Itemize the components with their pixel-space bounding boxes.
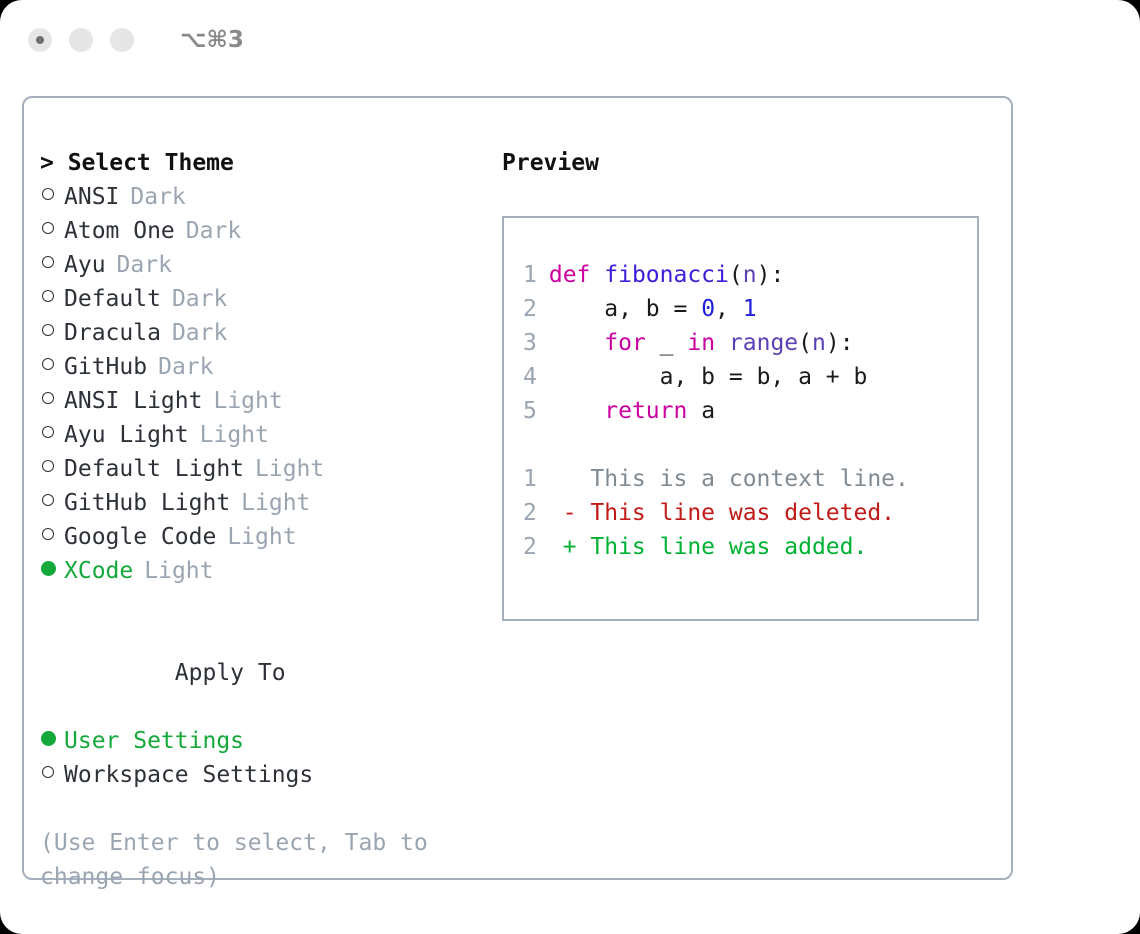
- theme-variant-tag: Light: [189, 418, 269, 452]
- gutter-space: [535, 296, 549, 322]
- gutter-space: [535, 364, 549, 390]
- app-window: ⌥⌘3 > Select Theme ANSIDarkAtom OneDarkA…: [0, 0, 1140, 934]
- code-token: a, b = b, a + b: [549, 364, 868, 390]
- theme-variant-tag: Dark: [175, 214, 241, 248]
- code-token: ):: [826, 330, 854, 356]
- code-token: (: [729, 262, 743, 288]
- line-number: 5: [523, 394, 535, 428]
- line-number: 3: [523, 326, 535, 360]
- window-control-second[interactable]: [69, 28, 93, 52]
- radio-ring: [42, 460, 54, 472]
- diff-line-text: This is a context line.: [535, 466, 909, 492]
- theme-variant-tag: Light: [230, 486, 310, 520]
- theme-option-label: Ayu Light: [64, 418, 189, 452]
- code-token: a: [687, 398, 715, 424]
- title-bar: ⌥⌘3: [0, 0, 1140, 80]
- theme-option-3[interactable]: DefaultDark: [40, 282, 480, 316]
- radio-ring: [42, 426, 54, 438]
- active-indicator-dot: [36, 36, 44, 44]
- theme-variant-tag: Light: [216, 520, 296, 554]
- radio-ring: [42, 222, 54, 234]
- window-control-active[interactable]: [28, 28, 52, 52]
- theme-option-5[interactable]: GitHubDark: [40, 350, 480, 384]
- theme-option-1[interactable]: Atom OneDark: [40, 214, 480, 248]
- radio-ring: [42, 358, 54, 370]
- diff-line: 2 - This line was deleted.: [523, 496, 909, 530]
- line-number: 2: [523, 292, 535, 326]
- apply-to-heading: Apply To: [151, 660, 286, 686]
- line-number: 4: [523, 360, 535, 394]
- preview-panel: Preview 1 def fibonacci(n):2 a, b = 0, 1…: [502, 146, 992, 621]
- code-token: [549, 330, 604, 356]
- theme-option-label: GitHub: [64, 350, 147, 384]
- diff-line-number: 2: [523, 530, 535, 564]
- theme-selector-panel: > Select Theme ANSIDarkAtom OneDarkAyuDa…: [40, 146, 480, 894]
- theme-option-2[interactable]: AyuDark: [40, 248, 480, 282]
- theme-option-label: ANSI: [64, 180, 119, 214]
- dialog-frame: > Select Theme ANSIDarkAtom OneDarkAyuDa…: [22, 96, 1013, 880]
- gutter-space: [535, 330, 549, 356]
- radio-ring: [42, 290, 54, 302]
- code-token: [549, 398, 604, 424]
- code-token: for: [604, 330, 646, 356]
- code-token: return: [604, 398, 687, 424]
- apply-to-section: Apply To: [40, 622, 480, 724]
- code-line: 1 def fibonacci(n):: [523, 258, 909, 292]
- theme-option-0[interactable]: ANSIDark: [40, 180, 480, 214]
- diff-line: 1 This is a context line.: [523, 462, 909, 496]
- code-token: n: [743, 262, 757, 288]
- line-number: 1: [523, 258, 535, 292]
- diff-line-text: - This line was deleted.: [535, 500, 895, 526]
- theme-option-11[interactable]: XCodeLight: [40, 554, 480, 588]
- theme-option-label: Default: [64, 282, 161, 316]
- theme-option-label: XCode: [64, 554, 133, 588]
- theme-option-list: ANSIDarkAtom OneDarkAyuDarkDefaultDarkDr…: [40, 180, 480, 588]
- code-line: 2 a, b = 0, 1: [523, 292, 909, 326]
- theme-variant-tag: Dark: [147, 350, 213, 384]
- gutter-space: [535, 398, 549, 424]
- theme-option-10[interactable]: Google CodeLight: [40, 520, 480, 554]
- radio-ring: [42, 392, 54, 404]
- theme-option-label: Dracula: [64, 316, 161, 350]
- radio-ring: [42, 324, 54, 336]
- theme-option-label: Default Light: [64, 452, 244, 486]
- apply-to-option-list: User SettingsWorkspace Settings: [40, 724, 480, 792]
- theme-variant-tag: Dark: [119, 180, 185, 214]
- radio-fill: [41, 561, 56, 576]
- theme-variant-tag: Dark: [106, 248, 172, 282]
- code-token: def: [549, 262, 604, 288]
- theme-option-7[interactable]: Ayu LightLight: [40, 418, 480, 452]
- apply-option-0[interactable]: User Settings: [40, 724, 480, 758]
- theme-variant-tag: Dark: [161, 316, 227, 350]
- code-token: fibonacci: [604, 262, 729, 288]
- theme-option-8[interactable]: Default LightLight: [40, 452, 480, 486]
- code-token: range: [729, 330, 798, 356]
- radio-fill: [41, 731, 56, 746]
- code-token: (: [798, 330, 812, 356]
- keyboard-hint-text: (Use Enter to select, Tab to change focu…: [40, 826, 448, 894]
- diff-line-number: 1: [523, 462, 535, 496]
- code-diff-separator: [523, 428, 909, 462]
- select-theme-heading: > Select Theme: [40, 146, 480, 180]
- theme-variant-tag: Dark: [161, 282, 227, 316]
- theme-option-label: Atom One: [64, 214, 175, 248]
- apply-option-1[interactable]: Workspace Settings: [40, 758, 480, 792]
- theme-option-label: Ayu: [64, 248, 106, 282]
- code-token: a, b =: [549, 296, 701, 322]
- diff-line: 2 + This line was added.: [523, 530, 909, 564]
- code-line: 4 a, b = b, a + b: [523, 360, 909, 394]
- code-line: 5 return a: [523, 394, 909, 428]
- code-token: 1: [743, 296, 757, 322]
- diff-line-text: + This line was added.: [535, 534, 867, 560]
- apply-option-label: Workspace Settings: [64, 758, 313, 792]
- code-sample: 1 def fibonacci(n):2 a, b = 0, 13 for _ …: [523, 258, 909, 564]
- preview-box: 1 def fibonacci(n):2 a, b = 0, 13 for _ …: [502, 216, 979, 621]
- code-line: 3 for _ in range(n):: [523, 326, 909, 360]
- code-token: _: [646, 330, 688, 356]
- theme-option-label: Google Code: [64, 520, 216, 554]
- theme-variant-tag: Light: [244, 452, 324, 486]
- theme-option-6[interactable]: ANSI LightLight: [40, 384, 480, 418]
- code-token: 0: [701, 296, 715, 322]
- keyboard-shortcut-label: ⌥⌘3: [180, 27, 244, 53]
- theme-variant-tag: Light: [202, 384, 282, 418]
- window-control-third[interactable]: [110, 28, 134, 52]
- window-controls: [28, 28, 134, 52]
- gutter-space: [535, 262, 549, 288]
- code-token: [715, 330, 729, 356]
- code-token: ,: [715, 296, 743, 322]
- theme-option-label: GitHub Light: [64, 486, 230, 520]
- theme-variant-tag: Light: [133, 554, 213, 588]
- code-token: in: [687, 330, 715, 356]
- theme-option-label: ANSI Light: [64, 384, 202, 418]
- radio-ring: [42, 528, 54, 540]
- preview-heading: Preview: [502, 146, 992, 180]
- radio-ring: [42, 494, 54, 506]
- theme-option-9[interactable]: GitHub LightLight: [40, 486, 480, 520]
- diff-line-number: 2: [523, 496, 535, 530]
- radio-ring: [42, 766, 54, 778]
- apply-option-label: User Settings: [64, 724, 244, 758]
- theme-option-4[interactable]: DraculaDark: [40, 316, 480, 350]
- code-token: n: [812, 330, 826, 356]
- code-token: ):: [757, 262, 785, 288]
- radio-ring: [42, 256, 54, 268]
- radio-ring: [42, 188, 54, 200]
